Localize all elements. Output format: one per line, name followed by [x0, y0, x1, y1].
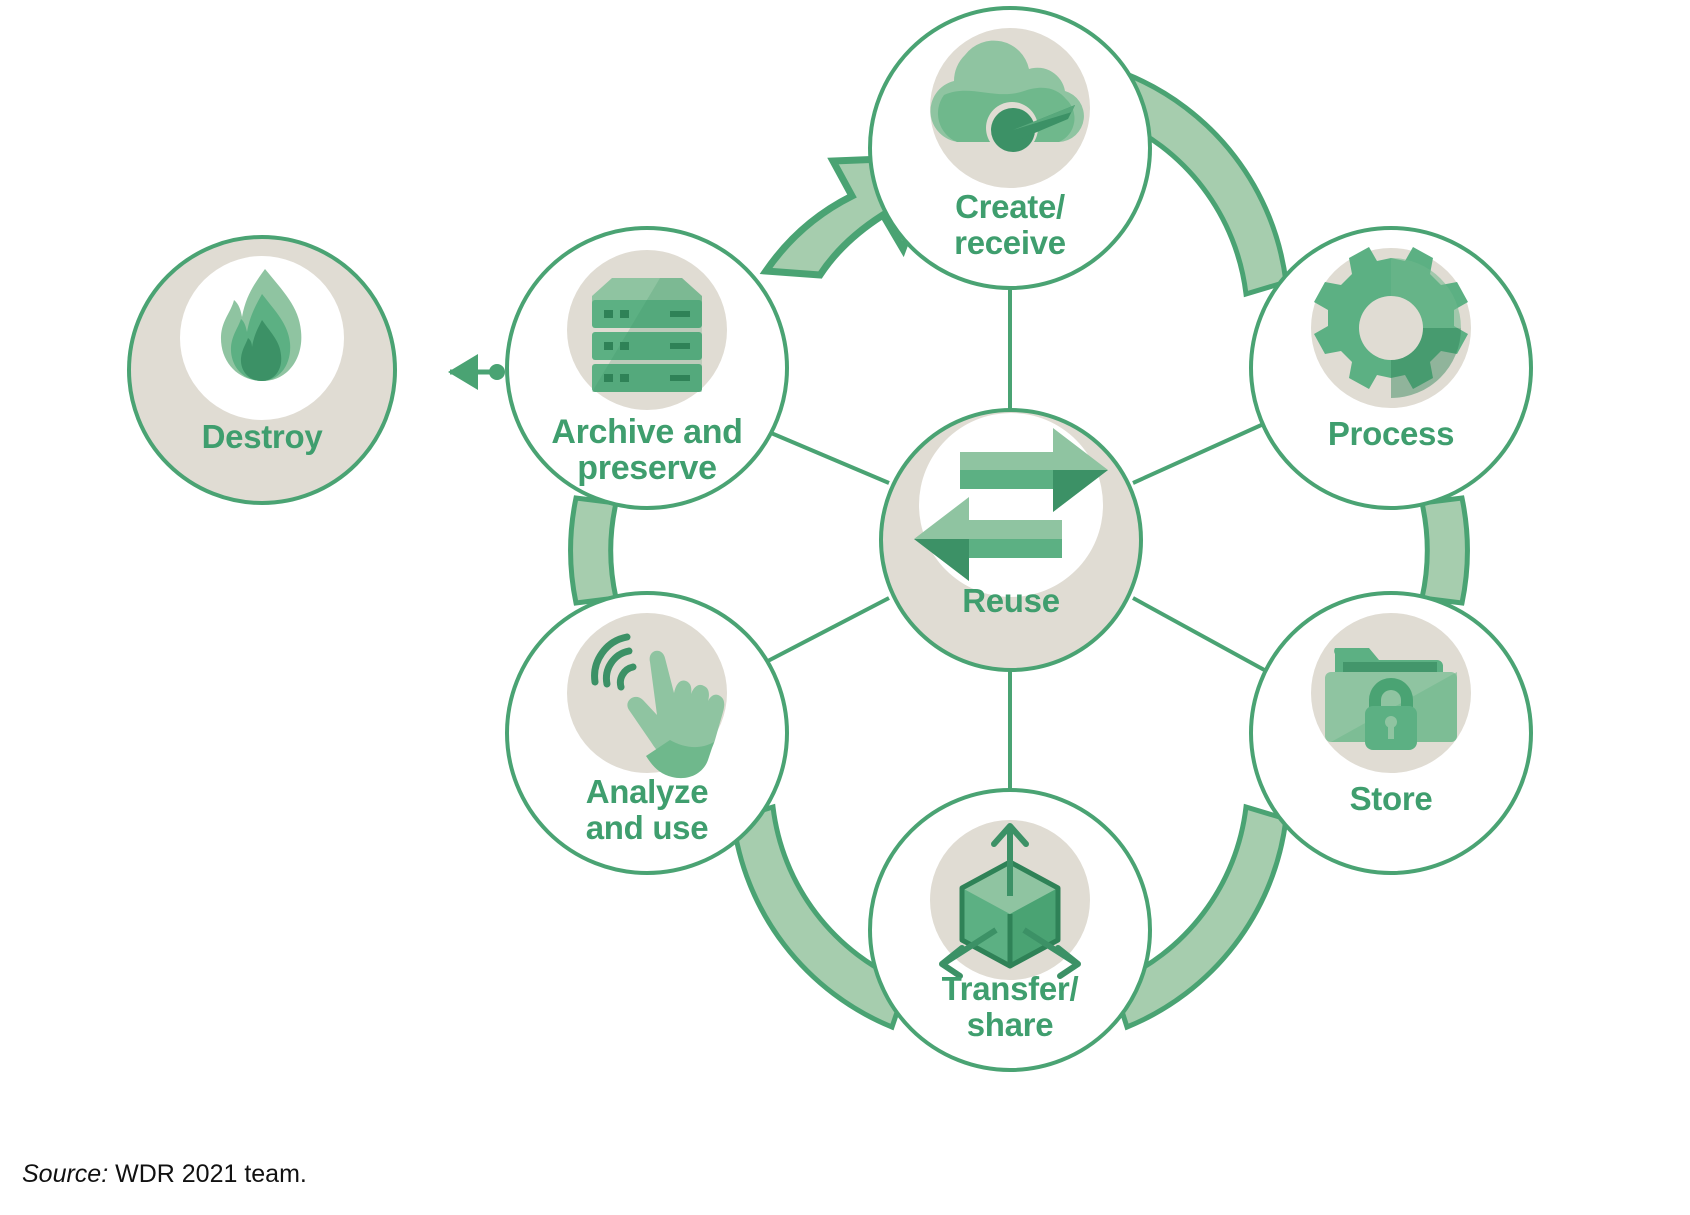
node-label: Destroy — [202, 418, 324, 455]
spoke-analyze-reuse — [764, 598, 889, 663]
cycle-diagram: Reuse Create/ receive Process — [0, 0, 1690, 1215]
hub-label: Reuse — [962, 582, 1060, 619]
thin-arrow-archive-to-destroy — [448, 354, 505, 390]
node-label-line-2: and use — [586, 809, 709, 846]
node-archive-preserve[interactable]: Archive and preserve — [507, 228, 787, 508]
node-label-line-2: preserve — [577, 449, 716, 487]
node-label-line-1: Analyze — [586, 773, 709, 810]
figure-canvas: Reuse Create/ receive Process — [0, 0, 1690, 1215]
node-label-line-1: Archive and — [551, 413, 742, 451]
hub-reuse[interactable]: Reuse — [881, 410, 1141, 670]
node-label-line-1: Create/ — [955, 188, 1065, 225]
server-rack-icon — [592, 278, 702, 392]
ring-band-process-store — [1422, 498, 1467, 603]
source-label: Source: — [22, 1160, 108, 1188]
node-destroy[interactable]: Destroy — [129, 237, 395, 503]
spoke-process-reuse — [1133, 422, 1268, 483]
node-label: Process — [1328, 415, 1454, 452]
source-caption: Source: WDR 2021 team. — [22, 1160, 307, 1189]
node-label-line-1: Transfer/ — [942, 970, 1079, 1007]
source-value: WDR 2021 team. — [108, 1160, 307, 1188]
node-analyze-use[interactable]: Analyze and use — [507, 593, 787, 873]
node-process[interactable]: Process — [1251, 228, 1531, 508]
folder-lock-icon — [1325, 648, 1457, 750]
node-label-line-2: share — [967, 1006, 1054, 1043]
node-label-line-2: receive — [954, 224, 1066, 261]
node-create-receive[interactable]: Create/ receive — [870, 8, 1150, 288]
node-transfer-share[interactable]: Transfer/ share — [870, 790, 1150, 1070]
node-label: Store — [1350, 780, 1433, 817]
hub-inner-white-disc — [919, 413, 1103, 597]
node-store[interactable]: Store — [1251, 593, 1531, 873]
ring-band-analyze-archive — [571, 498, 616, 603]
spoke-archive-reuse — [764, 430, 889, 483]
spoke-store-reuse — [1133, 598, 1268, 672]
